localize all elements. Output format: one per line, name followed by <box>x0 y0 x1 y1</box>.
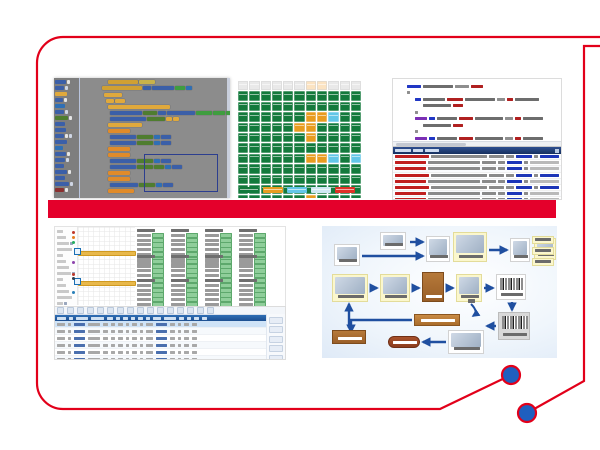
table-cell[interactable] <box>184 351 189 354</box>
grid-status-cell[interactable] <box>261 154 271 163</box>
table-cell[interactable] <box>146 337 153 340</box>
grid-status-cell[interactable] <box>351 164 361 173</box>
grid-header-cell[interactable] <box>328 81 338 90</box>
grid-status-cell[interactable] <box>340 175 350 184</box>
table-cell[interactable] <box>170 358 175 361</box>
code-line-1[interactable] <box>393 84 561 89</box>
grid-status-cell[interactable] <box>249 133 259 142</box>
grid-status-cell[interactable] <box>317 195 327 198</box>
grid-status-cell[interactable] <box>238 154 248 163</box>
grid-status-cell[interactable] <box>261 102 271 111</box>
grid-status-cell[interactable] <box>328 175 338 184</box>
palette-item-clock1[interactable] <box>55 151 78 156</box>
grid-status-cell[interactable] <box>306 143 316 152</box>
table-row[interactable] <box>55 321 285 328</box>
table-cell[interactable] <box>57 323 65 326</box>
grid-status-cell[interactable] <box>317 175 327 184</box>
gantt-row-header[interactable] <box>57 247 75 251</box>
grid-status-cell[interactable] <box>272 133 282 142</box>
block-segment[interactable] <box>137 135 153 139</box>
column-header[interactable] <box>153 317 161 320</box>
table-cell[interactable] <box>68 330 71 333</box>
table-cell[interactable] <box>146 351 153 354</box>
table-row[interactable] <box>55 356 285 360</box>
flow-node-reject-area[interactable] <box>414 314 460 326</box>
table-cell[interactable] <box>192 344 197 347</box>
table-cell[interactable] <box>118 330 123 333</box>
side-action-button[interactable] <box>269 336 283 343</box>
code-line-7[interactable] <box>393 123 561 128</box>
block-segment[interactable] <box>226 111 230 115</box>
table-cell[interactable] <box>88 358 100 361</box>
grid-status-cell[interactable] <box>306 91 316 100</box>
grid-status-cell[interactable] <box>283 133 293 142</box>
grid-status-cell[interactable] <box>317 102 327 111</box>
grid-status-cell[interactable] <box>317 112 327 121</box>
grid-header-cell[interactable] <box>283 81 293 90</box>
blocks-programming-editor[interactable] <box>54 78 230 198</box>
table-cell[interactable] <box>111 330 115 333</box>
table-cell[interactable] <box>132 330 137 333</box>
block-stack-row-5[interactable] <box>110 111 230 115</box>
grid-status-cell[interactable] <box>238 195 248 198</box>
table-cell[interactable] <box>103 351 108 354</box>
block-segment[interactable] <box>108 171 130 175</box>
block-segment[interactable] <box>110 135 136 139</box>
table-cell[interactable] <box>74 351 85 354</box>
grid-header-cell[interactable] <box>261 81 271 90</box>
grid-status-cell[interactable] <box>306 133 316 142</box>
block-segment[interactable] <box>110 183 138 187</box>
table-cell[interactable] <box>178 358 182 361</box>
block-segment[interactable] <box>139 80 155 84</box>
table-row[interactable] <box>55 328 285 335</box>
block-segment[interactable] <box>108 129 130 133</box>
flow-node-supplier[interactable] <box>334 244 360 266</box>
grid-status-cell[interactable] <box>249 143 259 152</box>
grid-header-cell[interactable] <box>340 81 350 90</box>
block-segment[interactable] <box>175 86 185 90</box>
grid-header-cell[interactable] <box>249 81 259 90</box>
table-cell[interactable] <box>118 323 123 326</box>
grid-status-cell[interactable] <box>317 164 327 173</box>
block-segment[interactable] <box>115 99 125 103</box>
palette-item-delete[interactable] <box>55 187 78 192</box>
grid-status-cell[interactable] <box>261 175 271 184</box>
table-cell[interactable] <box>140 358 144 361</box>
table-cell[interactable] <box>178 330 182 333</box>
table-cell[interactable] <box>68 351 71 354</box>
table-cell[interactable] <box>74 330 85 333</box>
table-cell[interactable] <box>146 358 153 361</box>
toolbar-button[interactable] <box>117 307 124 314</box>
grid-status-cell[interactable] <box>249 154 259 163</box>
column-header[interactable] <box>187 317 191 320</box>
block-segment[interactable] <box>161 135 171 139</box>
grid-status-cell[interactable] <box>328 143 338 152</box>
table-cell[interactable] <box>192 330 197 333</box>
block-stack-row-8[interactable] <box>108 129 130 133</box>
palette-item-lists[interactable] <box>55 109 78 114</box>
palette-item-any-component[interactable] <box>55 181 78 186</box>
block-segment[interactable] <box>108 189 134 193</box>
palette-item-button1[interactable] <box>55 157 78 162</box>
grid-status-cell[interactable] <box>249 112 259 121</box>
gantt-row-header[interactable] <box>57 301 75 305</box>
toolbar-button[interactable] <box>77 307 84 314</box>
grid-status-cell[interactable] <box>261 123 271 132</box>
table-cell[interactable] <box>103 330 108 333</box>
table-cell[interactable] <box>126 323 130 326</box>
table-cell[interactable] <box>132 323 137 326</box>
table-cell[interactable] <box>170 344 175 347</box>
table-cell[interactable] <box>111 323 115 326</box>
grid-status-cell[interactable] <box>238 123 248 132</box>
table-cell[interactable] <box>103 337 108 340</box>
table-cell[interactable] <box>57 344 65 347</box>
table-cell[interactable] <box>74 358 85 361</box>
build-output-console[interactable] <box>393 146 561 199</box>
block-stack-row-12[interactable] <box>108 153 130 157</box>
grid-status-cell[interactable] <box>238 102 248 111</box>
grid-status-cell[interactable] <box>317 123 327 132</box>
toolbar-button[interactable] <box>127 307 134 314</box>
grid-status-cell[interactable] <box>340 102 350 111</box>
table-cell[interactable] <box>88 330 100 333</box>
block-segment[interactable] <box>154 135 160 139</box>
grid-status-cell[interactable] <box>351 112 361 121</box>
table-cell[interactable] <box>140 337 144 340</box>
code-editor-panel[interactable] <box>392 78 562 200</box>
grid-header-cell[interactable] <box>306 81 316 90</box>
column-header[interactable] <box>91 317 104 320</box>
table-cell[interactable] <box>192 358 197 361</box>
grid-status-cell[interactable] <box>328 112 338 121</box>
block-segment[interactable] <box>173 117 179 121</box>
block-segment[interactable] <box>106 99 114 103</box>
grid-status-cell[interactable] <box>261 143 271 152</box>
grid-status-cell[interactable] <box>272 164 282 173</box>
flow-node-delivery-truck[interactable] <box>332 274 368 302</box>
grid-status-cell[interactable] <box>306 123 316 132</box>
block-segment[interactable] <box>108 177 130 181</box>
table-cell[interactable] <box>184 358 189 361</box>
close-icon[interactable] <box>555 149 559 153</box>
table-cell[interactable] <box>118 358 123 361</box>
flow-node-unloading[interactable] <box>380 274 410 302</box>
data-grid-toolbar[interactable] <box>55 307 285 315</box>
grid-status-cell[interactable] <box>294 91 304 100</box>
block-stack-row-11[interactable] <box>108 147 130 151</box>
toolbar-button[interactable] <box>207 307 214 314</box>
grid-status-cell[interactable] <box>249 102 259 111</box>
block-segment[interactable] <box>152 86 174 90</box>
grid-status-cell[interactable] <box>283 195 293 198</box>
table-cell[interactable] <box>184 330 189 333</box>
palette-item-screen1[interactable] <box>55 133 78 138</box>
toolbar-button[interactable] <box>107 307 114 314</box>
table-cell[interactable] <box>192 351 197 354</box>
palette-item-built-in[interactable] <box>55 79 78 84</box>
palette-item-procedures[interactable] <box>55 127 78 132</box>
palette-item-label1[interactable] <box>55 163 78 168</box>
table-cell[interactable] <box>156 358 167 361</box>
table-cell[interactable] <box>170 351 175 354</box>
side-action-button[interactable] <box>269 317 283 324</box>
table-cell[interactable] <box>68 344 71 347</box>
gantt-timeline-grid[interactable] <box>78 227 135 305</box>
table-cell[interactable] <box>68 358 71 361</box>
grid-status-cell[interactable] <box>306 164 316 173</box>
block-segment[interactable] <box>143 86 151 90</box>
table-cell[interactable] <box>170 323 175 326</box>
blocks-canvas[interactable] <box>80 78 230 198</box>
code-line-4[interactable] <box>393 103 561 108</box>
grid-status-cell[interactable] <box>272 123 282 132</box>
column-header[interactable] <box>123 317 129 320</box>
grid-status-cell[interactable] <box>294 133 304 142</box>
block-segment[interactable] <box>137 141 153 145</box>
grid-header-cell[interactable] <box>294 81 304 90</box>
grid-status-cell[interactable] <box>249 175 259 184</box>
table-row[interactable] <box>55 335 285 342</box>
grid-status-cell[interactable] <box>340 123 350 132</box>
block-stack-row-0[interactable] <box>108 80 155 84</box>
table-cell[interactable] <box>178 351 182 354</box>
grid-status-cell[interactable] <box>294 154 304 163</box>
grid-status-cell[interactable] <box>294 123 304 132</box>
grid-status-cell[interactable] <box>272 102 282 111</box>
table-cell[interactable] <box>140 344 144 347</box>
table-cell[interactable] <box>118 351 123 354</box>
grid-header-cell[interactable] <box>272 81 282 90</box>
table-cell[interactable] <box>68 337 71 340</box>
data-grid-body[interactable] <box>55 321 285 360</box>
table-cell[interactable] <box>146 344 153 347</box>
block-segment[interactable] <box>167 111 195 115</box>
table-cell[interactable] <box>126 358 130 361</box>
toolbar-button[interactable] <box>187 307 194 314</box>
grid-status-cell[interactable] <box>261 112 271 121</box>
table-cell[interactable] <box>118 344 123 347</box>
table-cell[interactable] <box>57 337 65 340</box>
grid-status-cell[interactable] <box>317 143 327 152</box>
table-cell[interactable] <box>111 358 115 361</box>
table-cell[interactable] <box>146 323 153 326</box>
table-row[interactable] <box>55 349 285 356</box>
table-cell[interactable] <box>74 344 85 347</box>
grid-status-cell[interactable] <box>272 154 282 163</box>
flow-node-scan-in[interactable] <box>498 312 530 340</box>
grid-status-cell[interactable] <box>317 91 327 100</box>
grid-status-cell[interactable] <box>351 175 361 184</box>
table-cell[interactable] <box>126 337 130 340</box>
table-cell[interactable] <box>74 323 85 326</box>
gantt-row-header[interactable] <box>57 283 75 287</box>
palette-item-variables[interactable] <box>55 121 78 126</box>
toolbar-button[interactable] <box>177 307 184 314</box>
table-cell[interactable] <box>170 337 175 340</box>
records-data-grid[interactable] <box>54 306 286 360</box>
flow-node-quality-check[interactable] <box>456 274 482 302</box>
block-stack-row-1[interactable] <box>102 86 192 90</box>
table-cell[interactable] <box>57 330 65 333</box>
table-cell[interactable] <box>103 358 108 361</box>
table-cell[interactable] <box>57 358 65 361</box>
grid-status-cell[interactable] <box>272 195 282 198</box>
grid-header-cell[interactable] <box>238 81 248 90</box>
grid-status-cell[interactable] <box>272 175 282 184</box>
code-line-6[interactable] <box>393 116 561 121</box>
table-cell[interactable] <box>156 344 167 347</box>
toolbar-button[interactable] <box>167 307 174 314</box>
flow-node-putaway[interactable] <box>448 330 484 354</box>
grid-status-cell[interactable] <box>340 164 350 173</box>
flow-node-order-system[interactable] <box>380 232 406 250</box>
table-cell[interactable] <box>178 337 182 340</box>
block-segment[interactable] <box>161 141 171 145</box>
grid-status-cell[interactable] <box>317 154 327 163</box>
grid-status-cell[interactable] <box>261 133 271 142</box>
block-stack-row-18[interactable] <box>108 189 134 193</box>
table-cell[interactable] <box>140 351 144 354</box>
block-segment[interactable] <box>154 141 160 145</box>
grid-status-cell[interactable] <box>328 164 338 173</box>
block-stack-row-6[interactable] <box>110 117 179 121</box>
table-cell[interactable] <box>111 337 115 340</box>
block-segment[interactable] <box>196 111 212 115</box>
table-cell[interactable] <box>184 337 189 340</box>
data-grid-side-buttons[interactable] <box>266 314 285 359</box>
grid-status-cell[interactable] <box>340 91 350 100</box>
grid-status-cell[interactable] <box>328 102 338 111</box>
block-segment[interactable] <box>110 159 136 163</box>
block-segment[interactable] <box>108 123 142 127</box>
grid-status-cell[interactable] <box>283 91 293 100</box>
table-cell[interactable] <box>156 330 167 333</box>
code-text-area[interactable] <box>393 79 561 144</box>
gantt-row-header[interactable] <box>57 265 75 269</box>
block-segment[interactable] <box>143 111 157 115</box>
grid-status-cell[interactable] <box>351 133 361 142</box>
grid-header-cell[interactable] <box>351 81 361 90</box>
palette-item-sprite1[interactable] <box>55 145 78 150</box>
flow-node-wms-server[interactable] <box>510 238 530 262</box>
grid-status-cell[interactable] <box>294 102 304 111</box>
grid-status-cell[interactable] <box>328 123 338 132</box>
column-header[interactable] <box>76 317 88 320</box>
column-header[interactable] <box>179 317 184 320</box>
flow-node-inbound-done[interactable] <box>388 336 420 348</box>
grid-status-cell[interactable] <box>340 154 350 163</box>
grid-status-cell[interactable] <box>238 91 248 100</box>
table-cell[interactable] <box>132 344 137 347</box>
palette-item-tinydb1[interactable] <box>55 175 78 180</box>
grid-status-cell[interactable] <box>238 133 248 142</box>
toolbar-button[interactable] <box>157 307 164 314</box>
column-header[interactable] <box>69 317 73 320</box>
grid-status-cell[interactable] <box>249 164 259 173</box>
flow-node-receiving[interactable] <box>422 272 444 302</box>
blocks-palette[interactable] <box>54 78 80 198</box>
block-stack-row-16[interactable] <box>108 177 130 181</box>
grid-status-cell[interactable] <box>283 112 293 121</box>
palette-item-sound1[interactable] <box>55 169 78 174</box>
table-cell[interactable] <box>192 323 197 326</box>
block-segment[interactable] <box>186 86 192 90</box>
column-header[interactable] <box>107 317 113 320</box>
grid-status-cell[interactable] <box>317 133 327 142</box>
table-cell[interactable] <box>132 351 137 354</box>
grid-status-cell[interactable] <box>283 143 293 152</box>
table-cell[interactable] <box>184 344 189 347</box>
grid-status-cell[interactable] <box>283 175 293 184</box>
grid-status-cell[interactable] <box>283 154 293 163</box>
table-cell[interactable] <box>57 351 65 354</box>
grid-status-cell[interactable] <box>328 154 338 163</box>
grid-status-cell[interactable] <box>249 91 259 100</box>
toolbar-button[interactable] <box>147 307 154 314</box>
column-header[interactable] <box>146 317 150 320</box>
grid-status-cell[interactable] <box>238 112 248 121</box>
grid-status-cell[interactable] <box>351 195 361 198</box>
gantt-milestone-node[interactable] <box>74 248 81 255</box>
table-cell[interactable] <box>170 330 175 333</box>
palette-item-colors[interactable] <box>55 115 78 120</box>
block-stack-row-10[interactable] <box>110 141 171 145</box>
grid-status-cell[interactable] <box>306 102 316 111</box>
grid-status-cell[interactable] <box>283 123 293 132</box>
code-line-8[interactable] <box>393 129 561 134</box>
table-cell[interactable] <box>118 337 123 340</box>
grid-status-cell[interactable] <box>261 91 271 100</box>
block-segment[interactable] <box>108 105 170 109</box>
side-action-button[interactable] <box>269 326 283 333</box>
block-segment[interactable] <box>108 80 138 84</box>
grid-header-cell[interactable] <box>317 81 327 90</box>
grid-status-cell[interactable] <box>351 143 361 152</box>
table-cell[interactable] <box>132 358 137 361</box>
block-segment[interactable] <box>108 147 130 151</box>
table-cell[interactable] <box>126 351 130 354</box>
palette-item-text[interactable] <box>55 103 78 108</box>
table-cell[interactable] <box>111 344 115 347</box>
gantt-row-header[interactable] <box>57 253 75 257</box>
table-cell[interactable] <box>103 344 108 347</box>
grid-status-cell[interactable] <box>294 143 304 152</box>
grid-status-cell[interactable] <box>328 133 338 142</box>
flow-node-barcode-label[interactable] <box>496 274 526 300</box>
grid-status-cell[interactable] <box>283 164 293 173</box>
column-header[interactable] <box>116 317 120 320</box>
block-segment[interactable] <box>110 117 146 121</box>
block-segment[interactable] <box>110 141 136 145</box>
block-segment[interactable] <box>110 111 142 115</box>
grid-status-cell[interactable] <box>340 143 350 152</box>
column-header[interactable] <box>57 317 66 320</box>
console-log-rows[interactable] <box>393 154 561 200</box>
toolbar-button[interactable] <box>67 307 74 314</box>
grid-status-cell[interactable] <box>328 195 338 198</box>
toolbar-button[interactable] <box>197 307 204 314</box>
grid-status-cell[interactable] <box>306 154 316 163</box>
grid-status-cell[interactable] <box>272 143 282 152</box>
table-cell[interactable] <box>140 330 144 333</box>
grid-status-cell[interactable] <box>249 123 259 132</box>
table-cell[interactable] <box>111 351 115 354</box>
grid-status-cell[interactable] <box>351 102 361 111</box>
block-stack-row-3[interactable] <box>106 99 125 103</box>
